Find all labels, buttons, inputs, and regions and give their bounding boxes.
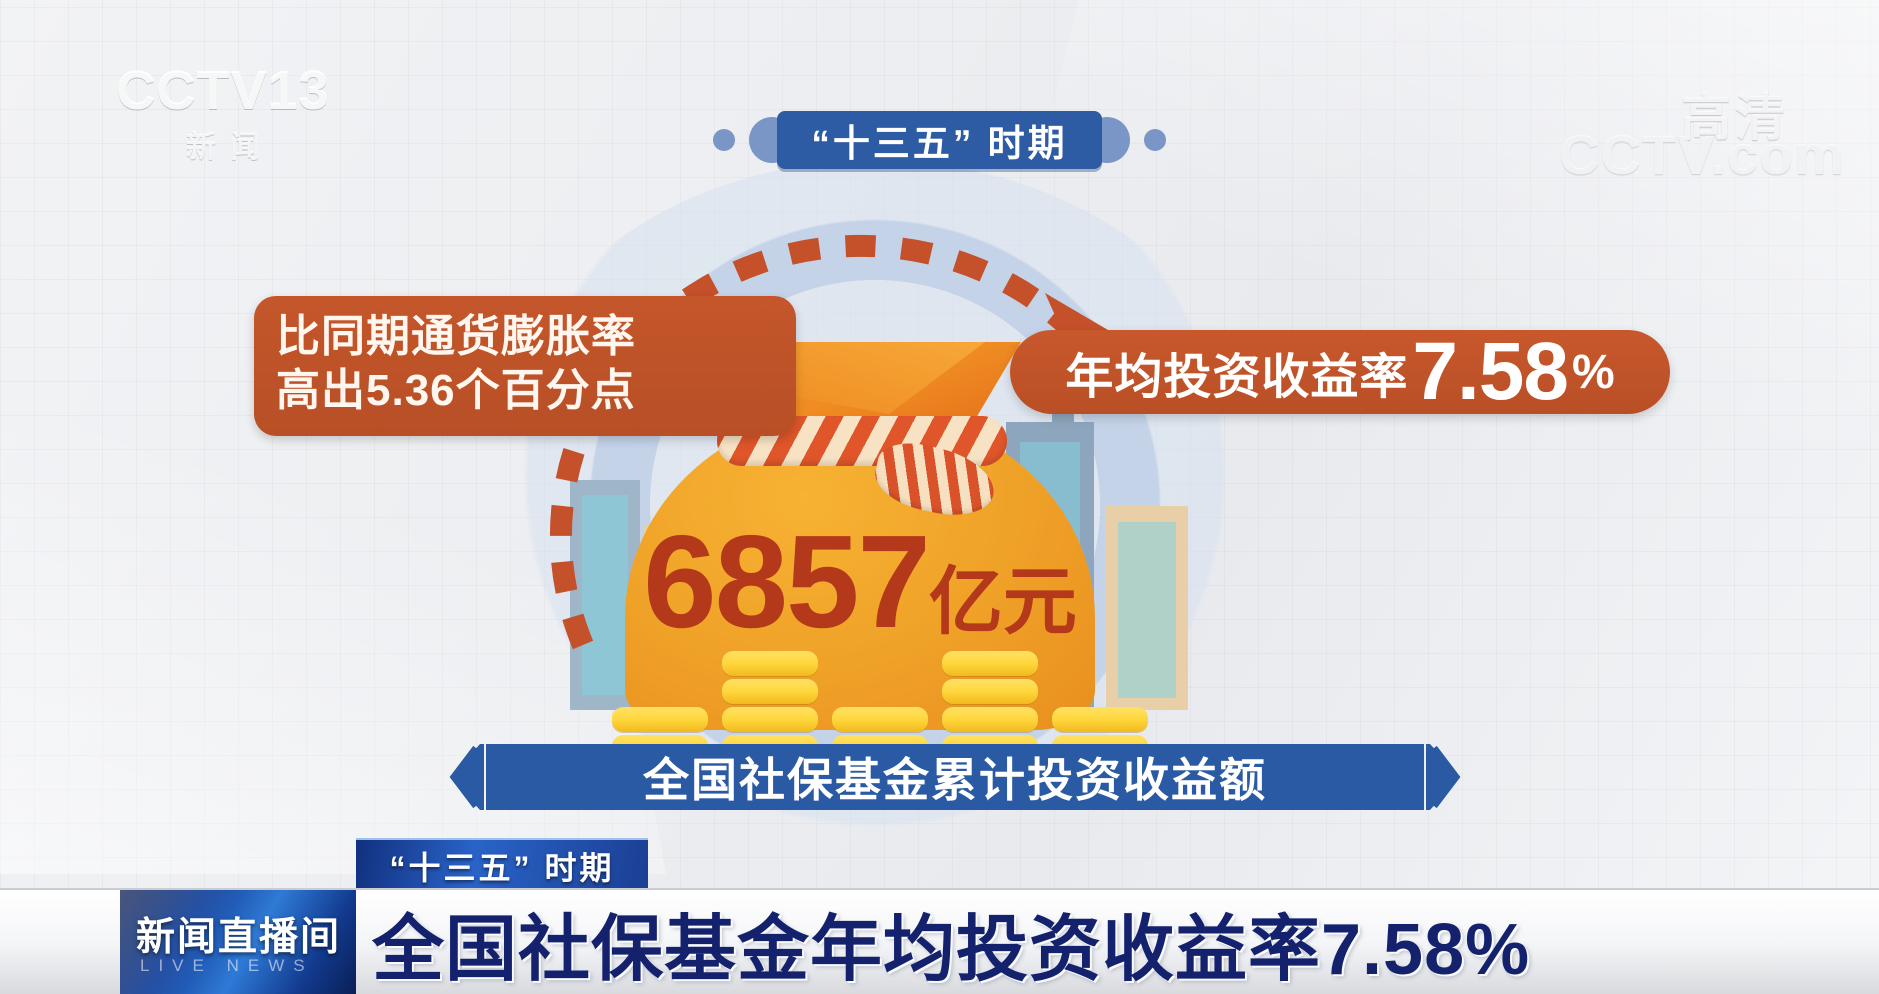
lower-third-bar: 新闻直播间 LIVE NEWS 全国社保基金年均投资收益率7.58%	[0, 888, 1879, 994]
headline-container: 全国社保基金年均投资收益率7.58%	[372, 896, 1849, 988]
coin	[942, 679, 1038, 704]
decor-dot-small	[1144, 129, 1166, 151]
chevron-left-icon	[440, 744, 484, 810]
callout-annual-return-rate: 年均投资收益率 7.58 %	[1010, 330, 1670, 414]
lower-third-kicker: “十三五” 时期	[356, 838, 648, 892]
coin	[1052, 707, 1148, 732]
callout-inflation-comparison: 比同期通货膨胀率 高出5.36个百分点	[254, 296, 796, 436]
program-name-en: LIVE NEWS	[140, 956, 314, 976]
caption-bar: 全国社保基金累计投资收益额	[486, 744, 1424, 810]
callout-left-line1: 比同期通货膨胀率	[276, 310, 776, 364]
coin	[942, 707, 1038, 732]
chevron-right-svg	[1426, 744, 1470, 810]
chevron-left-svg	[440, 744, 484, 810]
top-banner-row: “十三五” 时期	[0, 104, 1879, 176]
top-banner-label: “十三五” 时期	[811, 113, 1067, 167]
coin-stacks	[560, 600, 1200, 760]
coin	[722, 679, 818, 704]
callout-right-unit: %	[1572, 345, 1615, 400]
coin	[722, 651, 818, 676]
coin	[942, 651, 1038, 676]
program-badge: 新闻直播间 LIVE NEWS	[120, 890, 356, 994]
callout-right-value: 7.58	[1412, 336, 1568, 408]
decor-dot-small	[713, 129, 735, 151]
kicker-label: “十三五” 时期	[390, 843, 615, 889]
broadcast-screen: 6857亿元 CCTV13 新闻	[0, 0, 1879, 994]
coin	[722, 707, 818, 732]
callout-left-line2: 高出5.36个百分点	[276, 364, 776, 418]
headline-text: 全国社保基金年均投资收益率7.58%	[372, 890, 1530, 994]
chevron-right-icon	[1426, 744, 1470, 810]
callout-right-label: 年均投资收益率	[1065, 337, 1408, 407]
caption-label: 全国社保基金累计投资收益额	[643, 744, 1267, 810]
program-name-cn: 新闻直播间	[136, 906, 346, 962]
coin	[612, 707, 708, 732]
graphic-caption-ribbon: 全国社保基金累计投资收益额	[440, 744, 1470, 810]
coin	[832, 707, 928, 732]
top-banner: “十三五” 时期	[777, 111, 1101, 169]
